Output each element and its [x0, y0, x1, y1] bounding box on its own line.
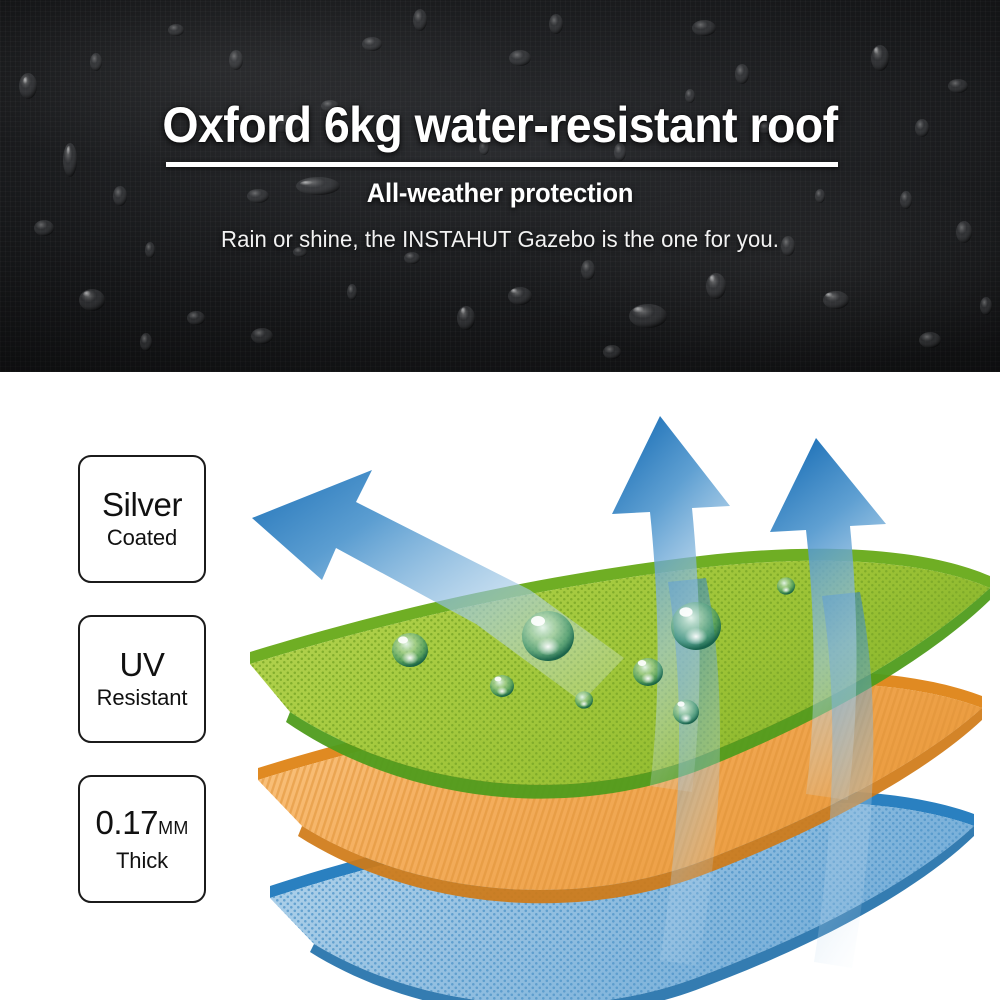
product-infographic: Oxford 6kg water-resistant roof All-weat… — [0, 0, 1000, 1000]
badge-sub-text: Thick — [116, 848, 168, 874]
hero-tagline: Rain or shine, the INSTAHUT Gazebo is th… — [20, 226, 980, 253]
badge-sub-text: Resistant — [97, 685, 188, 711]
badge-main-text: 0.17MM — [95, 805, 188, 846]
hero-subtitle: All-weather protection — [25, 178, 975, 209]
hero-title: Oxford 6kg water-resistant roof — [35, 96, 965, 154]
badge-sub-text: Coated — [107, 525, 177, 551]
badge-main-text: UV — [119, 647, 164, 683]
badge-value: 0.17 — [95, 804, 158, 841]
feature-panel: Silver Coated UV Resistant 0.17MM Thick — [0, 372, 1000, 1000]
three-layer-fabric-diagram — [230, 400, 1000, 1000]
hero-divider-rule — [166, 162, 838, 167]
badge-main-text: Silver — [102, 487, 182, 523]
badge-unit: MM — [158, 818, 188, 838]
feature-badge-silver-coated: Silver Coated — [78, 455, 206, 583]
hero-banner: Oxford 6kg water-resistant roof All-weat… — [0, 0, 1000, 372]
feature-badge-uv-resistant: UV Resistant — [78, 615, 206, 743]
feature-badge-thickness: 0.17MM Thick — [78, 775, 206, 903]
